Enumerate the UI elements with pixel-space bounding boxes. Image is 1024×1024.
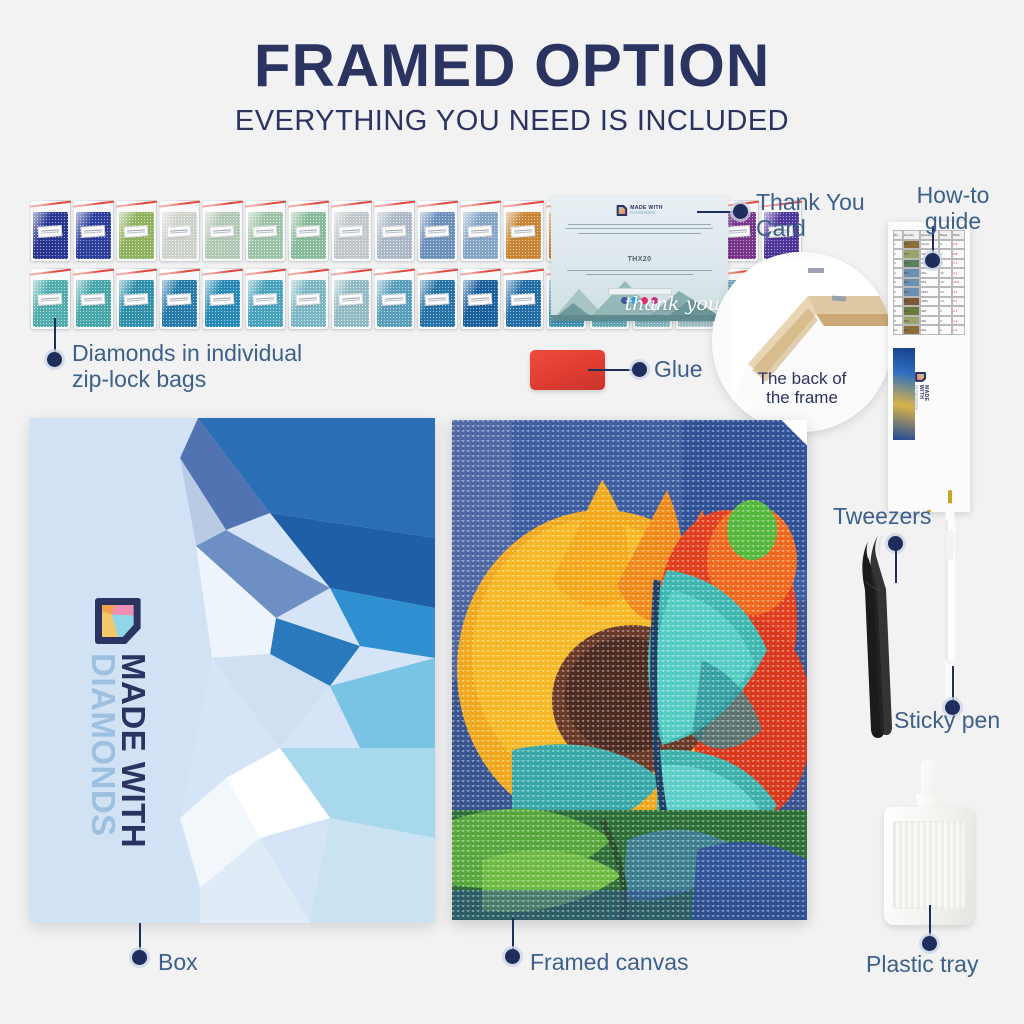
callout-dot-thank-you	[733, 204, 748, 219]
canvas-diamond-sparkle	[452, 420, 807, 920]
callout-label-diamonds: Diamonds in individual zip-lock bags	[72, 341, 342, 393]
card-logo-bottom: DIAMONDS	[630, 211, 663, 215]
diamond-logo-icon	[616, 205, 627, 216]
guide-logo-top: MADE WITH	[918, 385, 928, 414]
guide-table-cell: 646	[903, 316, 920, 326]
bag-gloss	[503, 268, 544, 330]
callout-dot-canvas	[505, 949, 520, 964]
guide-table-cell: 2.1	[952, 306, 965, 316]
zip-lock-bag	[503, 268, 544, 330]
callout-dot-diamonds	[47, 352, 62, 367]
guide-table-cell: 4.1	[952, 287, 965, 297]
zip-lock-bag	[245, 268, 286, 330]
bag-gloss	[288, 200, 329, 262]
zip-lock-bag	[374, 200, 415, 262]
guide-table-cell: 661	[903, 297, 920, 307]
infographic-root: FRAMED OPTION EVERYTHING YOU NEED IS INC…	[0, 0, 1024, 1024]
bag-gloss	[374, 268, 415, 330]
guide-table-row: 4350494124.1	[893, 268, 965, 278]
bag-gloss	[288, 268, 329, 330]
bag-gloss	[245, 200, 286, 262]
guide-table-row: 1044436421.1	[893, 325, 965, 335]
bag-gloss	[503, 200, 544, 262]
guide-table-cell: 1	[939, 249, 952, 259]
card-message-lines-2	[567, 270, 712, 279]
guide-table-cell: 0	[939, 240, 952, 250]
card-discount-code: THX20	[551, 256, 728, 263]
guide-table-cell: 2	[939, 306, 952, 316]
bag-gloss	[417, 268, 458, 330]
guide-table-cell: 0.5	[952, 240, 965, 250]
leader-line-tweezers	[895, 550, 897, 583]
sticky-pen	[940, 490, 960, 710]
diamond-logo-icon	[915, 372, 926, 382]
guide-table-cell: 3	[893, 259, 903, 269]
guide-table-cell: 348	[920, 306, 939, 316]
zip-lock-bag	[417, 268, 458, 330]
guide-table-cell: 4	[893, 268, 903, 278]
guide-table-row: 51546531211.8	[893, 278, 965, 288]
leader-line-box	[139, 923, 141, 951]
guide-table-cell: 9	[893, 316, 903, 326]
callout-dot-box	[132, 950, 147, 965]
guide-table-cell: 1	[893, 240, 903, 250]
guide-table-cell: 4.1	[952, 268, 965, 278]
guide-table-cell: 11.8	[952, 278, 965, 288]
guide-table-cell: 653	[920, 278, 939, 288]
guide-table-cell: 7.1	[952, 259, 965, 269]
callout-label-how-to: How-to guide	[893, 183, 1013, 235]
guide-table-cell: 371	[903, 259, 920, 269]
guide-table-cell: 444	[903, 325, 920, 335]
guide-table-cell: 24	[939, 287, 952, 297]
zip-lock-bag	[202, 200, 243, 262]
guide-table-cell: 364	[920, 325, 939, 335]
guide-table-row: 65802184244.1	[893, 287, 965, 297]
guide-table-cell: 12	[939, 268, 952, 278]
guide-table-cell: 154	[903, 278, 920, 288]
product-box: MADE WITH DIAMONDS	[30, 418, 435, 923]
zip-lock-bag	[159, 268, 200, 330]
guide-table-cell: 8	[893, 306, 903, 316]
guide-table-cell: 14	[939, 297, 952, 307]
zip-lock-bag	[30, 268, 71, 330]
guide-logo-bottom: DIAMONDS	[913, 385, 917, 414]
zip-lock-bag	[30, 200, 71, 262]
bag-gloss	[331, 268, 372, 330]
guide-table-cell: 1.4	[952, 316, 965, 326]
zip-lock-bag	[202, 268, 243, 330]
zip-lock-bag	[417, 200, 458, 262]
box-brand-logo: MADE WITH DIAMONDS	[87, 598, 148, 848]
guide-photo	[893, 348, 915, 440]
bag-gloss	[159, 268, 200, 330]
card-thank-you-script: thank you	[625, 296, 720, 313]
callout-label-sticky-pen: Sticky pen	[894, 708, 1024, 734]
zip-lock-bag	[73, 268, 114, 330]
callout-label-glue: Glue	[654, 357, 744, 383]
guide-table-cell: 2	[939, 316, 952, 326]
guide-table-cell: 12	[939, 278, 952, 288]
guide-table-cell: 2	[939, 325, 952, 335]
bag-gloss	[159, 200, 200, 262]
bag-gloss	[460, 200, 501, 262]
box-logo-top: MADE WITH	[118, 653, 148, 848]
framed-canvas	[452, 420, 807, 920]
zip-lock-bag	[116, 200, 157, 262]
guide-table-row: 76611054146.1	[893, 297, 965, 307]
bag-gloss	[30, 268, 71, 330]
zip-lock-bag	[288, 268, 329, 330]
guide-table-cell: 5	[893, 278, 903, 288]
zip-lock-bag	[460, 200, 501, 262]
bag-gloss	[73, 200, 114, 262]
guide-brand-logo: MADE WITH DIAMONDS	[913, 372, 928, 414]
zip-lock-bag	[374, 268, 415, 330]
leader-line-diamonds	[54, 318, 56, 354]
guide-table-cell: 2184	[920, 287, 939, 297]
callout-dot-how-to	[925, 253, 940, 268]
bag-gloss	[30, 200, 71, 262]
callout-dot-tweezers	[888, 536, 903, 551]
card-brand-logo: MADE WITH DIAMONDS	[616, 205, 663, 216]
zip-lock-bag	[159, 200, 200, 262]
guide-table-cell: 4	[939, 259, 952, 269]
leader-line-thank-you	[697, 211, 735, 213]
bag-gloss	[245, 268, 286, 330]
callout-label-canvas: Framed canvas	[530, 950, 760, 976]
plastic-tray	[884, 760, 974, 925]
zip-lock-bag	[331, 268, 372, 330]
guide-table-cell: 1054	[920, 297, 939, 307]
frame-back-bubble: The back of the frame	[712, 252, 892, 432]
callout-dot-plastic-tray	[922, 936, 937, 951]
guide-table-cell: 346	[920, 316, 939, 326]
guide-table-cell: 653	[903, 306, 920, 316]
leader-line-plastic-tray	[929, 905, 931, 938]
callout-label-box: Box	[158, 950, 278, 976]
bag-gloss	[202, 200, 243, 262]
guide-table-cell: 10-34	[920, 240, 939, 250]
leader-line-glue	[588, 369, 636, 371]
guide-table-cell: 494	[920, 268, 939, 278]
zip-lock-bag	[245, 200, 286, 262]
leader-line-canvas	[512, 918, 514, 950]
box-logo-bottom: DIAMONDS	[87, 653, 117, 848]
bag-gloss	[331, 200, 372, 262]
guide-table-row: 865334822.1	[893, 306, 965, 316]
guide-table-cell: 373	[903, 249, 920, 259]
page-subtitle: EVERYTHING YOU NEED IS INCLUDED	[0, 107, 1024, 136]
zip-lock-bag	[503, 200, 544, 262]
guide-table-cell: 6.1	[952, 297, 965, 307]
guide-table-cell: 350	[903, 268, 920, 278]
thank-you-card: MADE WITH DIAMONDS THX20 thank you	[551, 196, 728, 321]
sticky-pen-shape	[940, 490, 960, 710]
card-message-lines	[565, 224, 714, 237]
guide-table-cell: 0.8	[952, 249, 965, 259]
callout-label-thank-you: Thank You Card	[756, 190, 886, 242]
guide-table-cell: 580	[903, 287, 920, 297]
guide-table-cell: 10	[893, 325, 903, 335]
page-title: FRAMED OPTION	[0, 36, 1024, 96]
bag-gloss	[460, 268, 501, 330]
callout-dot-glue	[632, 362, 647, 377]
guide-table-cell: 6	[893, 287, 903, 297]
guide-table-cell: 166	[903, 240, 920, 250]
zip-lock-bag	[116, 268, 157, 330]
bag-gloss	[116, 268, 157, 330]
diamond-logo-icon	[95, 598, 141, 644]
bag-gloss	[374, 200, 415, 262]
bag-gloss	[202, 268, 243, 330]
bag-gloss	[116, 200, 157, 262]
zip-lock-bag	[288, 200, 329, 262]
canvas-corner-fold	[781, 420, 807, 446]
zip-lock-bag	[331, 200, 372, 262]
guide-color-table: No.SymbolQuantityBagsDMC116610-3400.5237…	[893, 230, 965, 335]
bag-gloss	[417, 200, 458, 262]
guide-table-cell: 1.1	[952, 325, 965, 335]
leader-line-sticky-pen	[952, 666, 954, 704]
guide-table-cell: 7	[893, 297, 903, 307]
guide-table-row: 964634621.4	[893, 316, 965, 326]
zip-lock-bag	[73, 200, 114, 262]
guide-table-cell: 2	[893, 249, 903, 259]
guide-table-row: 116610-3400.5	[893, 240, 965, 250]
zip-lock-bag	[460, 268, 501, 330]
bag-gloss	[73, 268, 114, 330]
callout-label-plastic-tray: Plastic tray	[866, 952, 1024, 978]
